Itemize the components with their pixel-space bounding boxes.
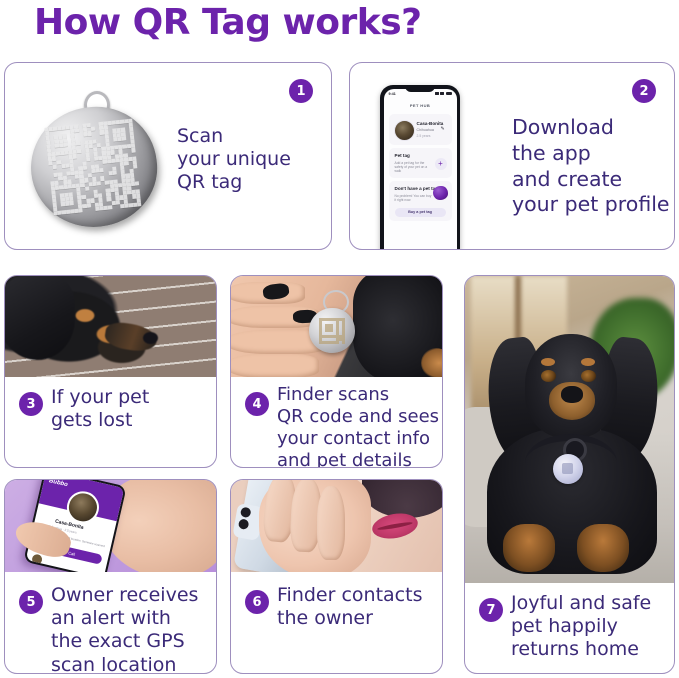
dog-body	[353, 276, 442, 377]
happy-dog-photo	[465, 276, 674, 583]
pet-profile-card[interactable]: Casa-Bonita Chihuahua 2.5 years ✎	[389, 114, 452, 145]
buy-pet-tag-button[interactable]: Buy a pet tag	[395, 208, 446, 217]
promo-subtitle: No problem! You can buy it right now.	[395, 194, 432, 203]
step-card-7: 7 Joyful and safe pet happily returns ho…	[464, 275, 675, 674]
step-badge-1: 1	[289, 79, 313, 103]
dog-ear	[5, 276, 75, 360]
wifi-icon	[440, 92, 444, 95]
page-title: How QR Tag works?	[34, 2, 422, 43]
phone-notch	[405, 85, 435, 92]
step-card-1: 1 Scan your unique QR tag	[4, 62, 332, 250]
step-card-4: 4 Finder scans QR code and sees your con…	[230, 275, 443, 468]
dog-tan-marking	[421, 348, 442, 377]
dog-paw-left	[503, 524, 555, 572]
step-text-3: If your pet gets lost	[51, 386, 149, 432]
finder-scanning-photo	[231, 276, 442, 377]
hand-background	[231, 276, 442, 377]
step-text-2: Download the app and create your pet pro…	[512, 115, 670, 218]
finger	[231, 306, 319, 328]
pet-age: 2.5 years	[417, 134, 431, 138]
step-card-6: 6 Finder contacts the owner	[230, 479, 443, 674]
edit-pencil-icon[interactable]: ✎	[441, 126, 447, 132]
status-time: 9:41	[389, 92, 396, 96]
step-badge-6: 6	[245, 590, 269, 614]
step-card-5: Bubbo Casa-Bonita Chihuahua · 2.5 years …	[4, 479, 217, 674]
qr-tag-image	[27, 85, 167, 231]
dog-eye-right	[581, 370, 596, 382]
step-text-6: Finder contacts the owner	[277, 584, 422, 630]
qr-tag-on-collar	[553, 454, 583, 484]
dachshund-lying	[5, 276, 157, 376]
how-it-works-infographic: How QR Tag works? 1 Scan your unique QR …	[0, 0, 679, 678]
dog-brow-left	[541, 358, 555, 366]
step-badge-3: 3	[19, 392, 43, 416]
promo-card: Don't have a pet tag? No problem! You ca…	[389, 181, 452, 221]
step-text-7: Joyful and safe pet happily returns home	[511, 592, 651, 662]
phone-screen: 9:41 PET HUB Casa-Bonita Chihuahua 2.5 y…	[384, 89, 457, 251]
plus-icon[interactable]: +	[435, 158, 447, 170]
dog-brow-right	[581, 358, 595, 366]
nail	[262, 282, 290, 300]
pet-breed: Chihuahua	[417, 128, 434, 132]
gps-alert-photo: Bubbo Casa-Bonita Chihuahua · 2.5 years …	[5, 480, 216, 572]
phone-mockup: 9:41 PET HUB Casa-Bonita Chihuahua 2.5 y…	[380, 85, 460, 250]
pet-tag-card[interactable]: Pet tag Add a pet tag for the safety of …	[389, 148, 452, 178]
finger	[231, 282, 305, 304]
step-badge-5: 5	[19, 590, 43, 614]
phone-screen-title: PET HUB	[384, 103, 457, 108]
camera-lens	[240, 507, 252, 519]
camera-lens	[238, 518, 250, 530]
dachshund-sitting	[481, 324, 661, 574]
qr-tag-disc	[309, 308, 355, 353]
pet-tag-subtitle: Add a pet tag for the safety of your pet…	[395, 161, 432, 174]
activity-thumb	[31, 553, 43, 565]
pet-avatar	[394, 120, 415, 141]
qr-code-pattern	[319, 318, 345, 344]
step-text-1: Scan your unique QR tag	[177, 125, 291, 195]
step-badge-4: 4	[245, 392, 269, 416]
dog-paw-right	[577, 524, 629, 572]
signal-icon	[435, 92, 439, 95]
hand	[259, 480, 371, 572]
tag-blob-icon	[433, 186, 448, 200]
qr-code-pattern	[45, 119, 142, 216]
step-text-4: Finder scans QR code and sees your conta…	[277, 384, 439, 468]
dog-eye-left	[541, 370, 556, 382]
status-icons	[435, 92, 452, 95]
pet-name: Casa-Bonita	[417, 121, 444, 126]
step-text-5: Owner receives an alert with the exact G…	[51, 584, 198, 674]
step-card-3: 3 If your pet gets lost	[4, 275, 217, 468]
lost-dog-photo	[5, 276, 216, 377]
finder-calling-photo	[231, 480, 442, 572]
finger	[317, 486, 345, 560]
step-card-2: 9:41 PET HUB Casa-Bonita Chihuahua 2.5 y…	[349, 62, 675, 250]
battery-icon	[446, 92, 452, 95]
call-label: Call	[68, 550, 76, 556]
finger	[231, 354, 319, 377]
dog-nose	[561, 386, 583, 403]
dog-nose	[143, 332, 158, 344]
pet-tag-title: Pet tag	[395, 153, 410, 158]
step-badge-7: 7	[479, 598, 503, 622]
step-badge-2: 2	[632, 79, 656, 103]
